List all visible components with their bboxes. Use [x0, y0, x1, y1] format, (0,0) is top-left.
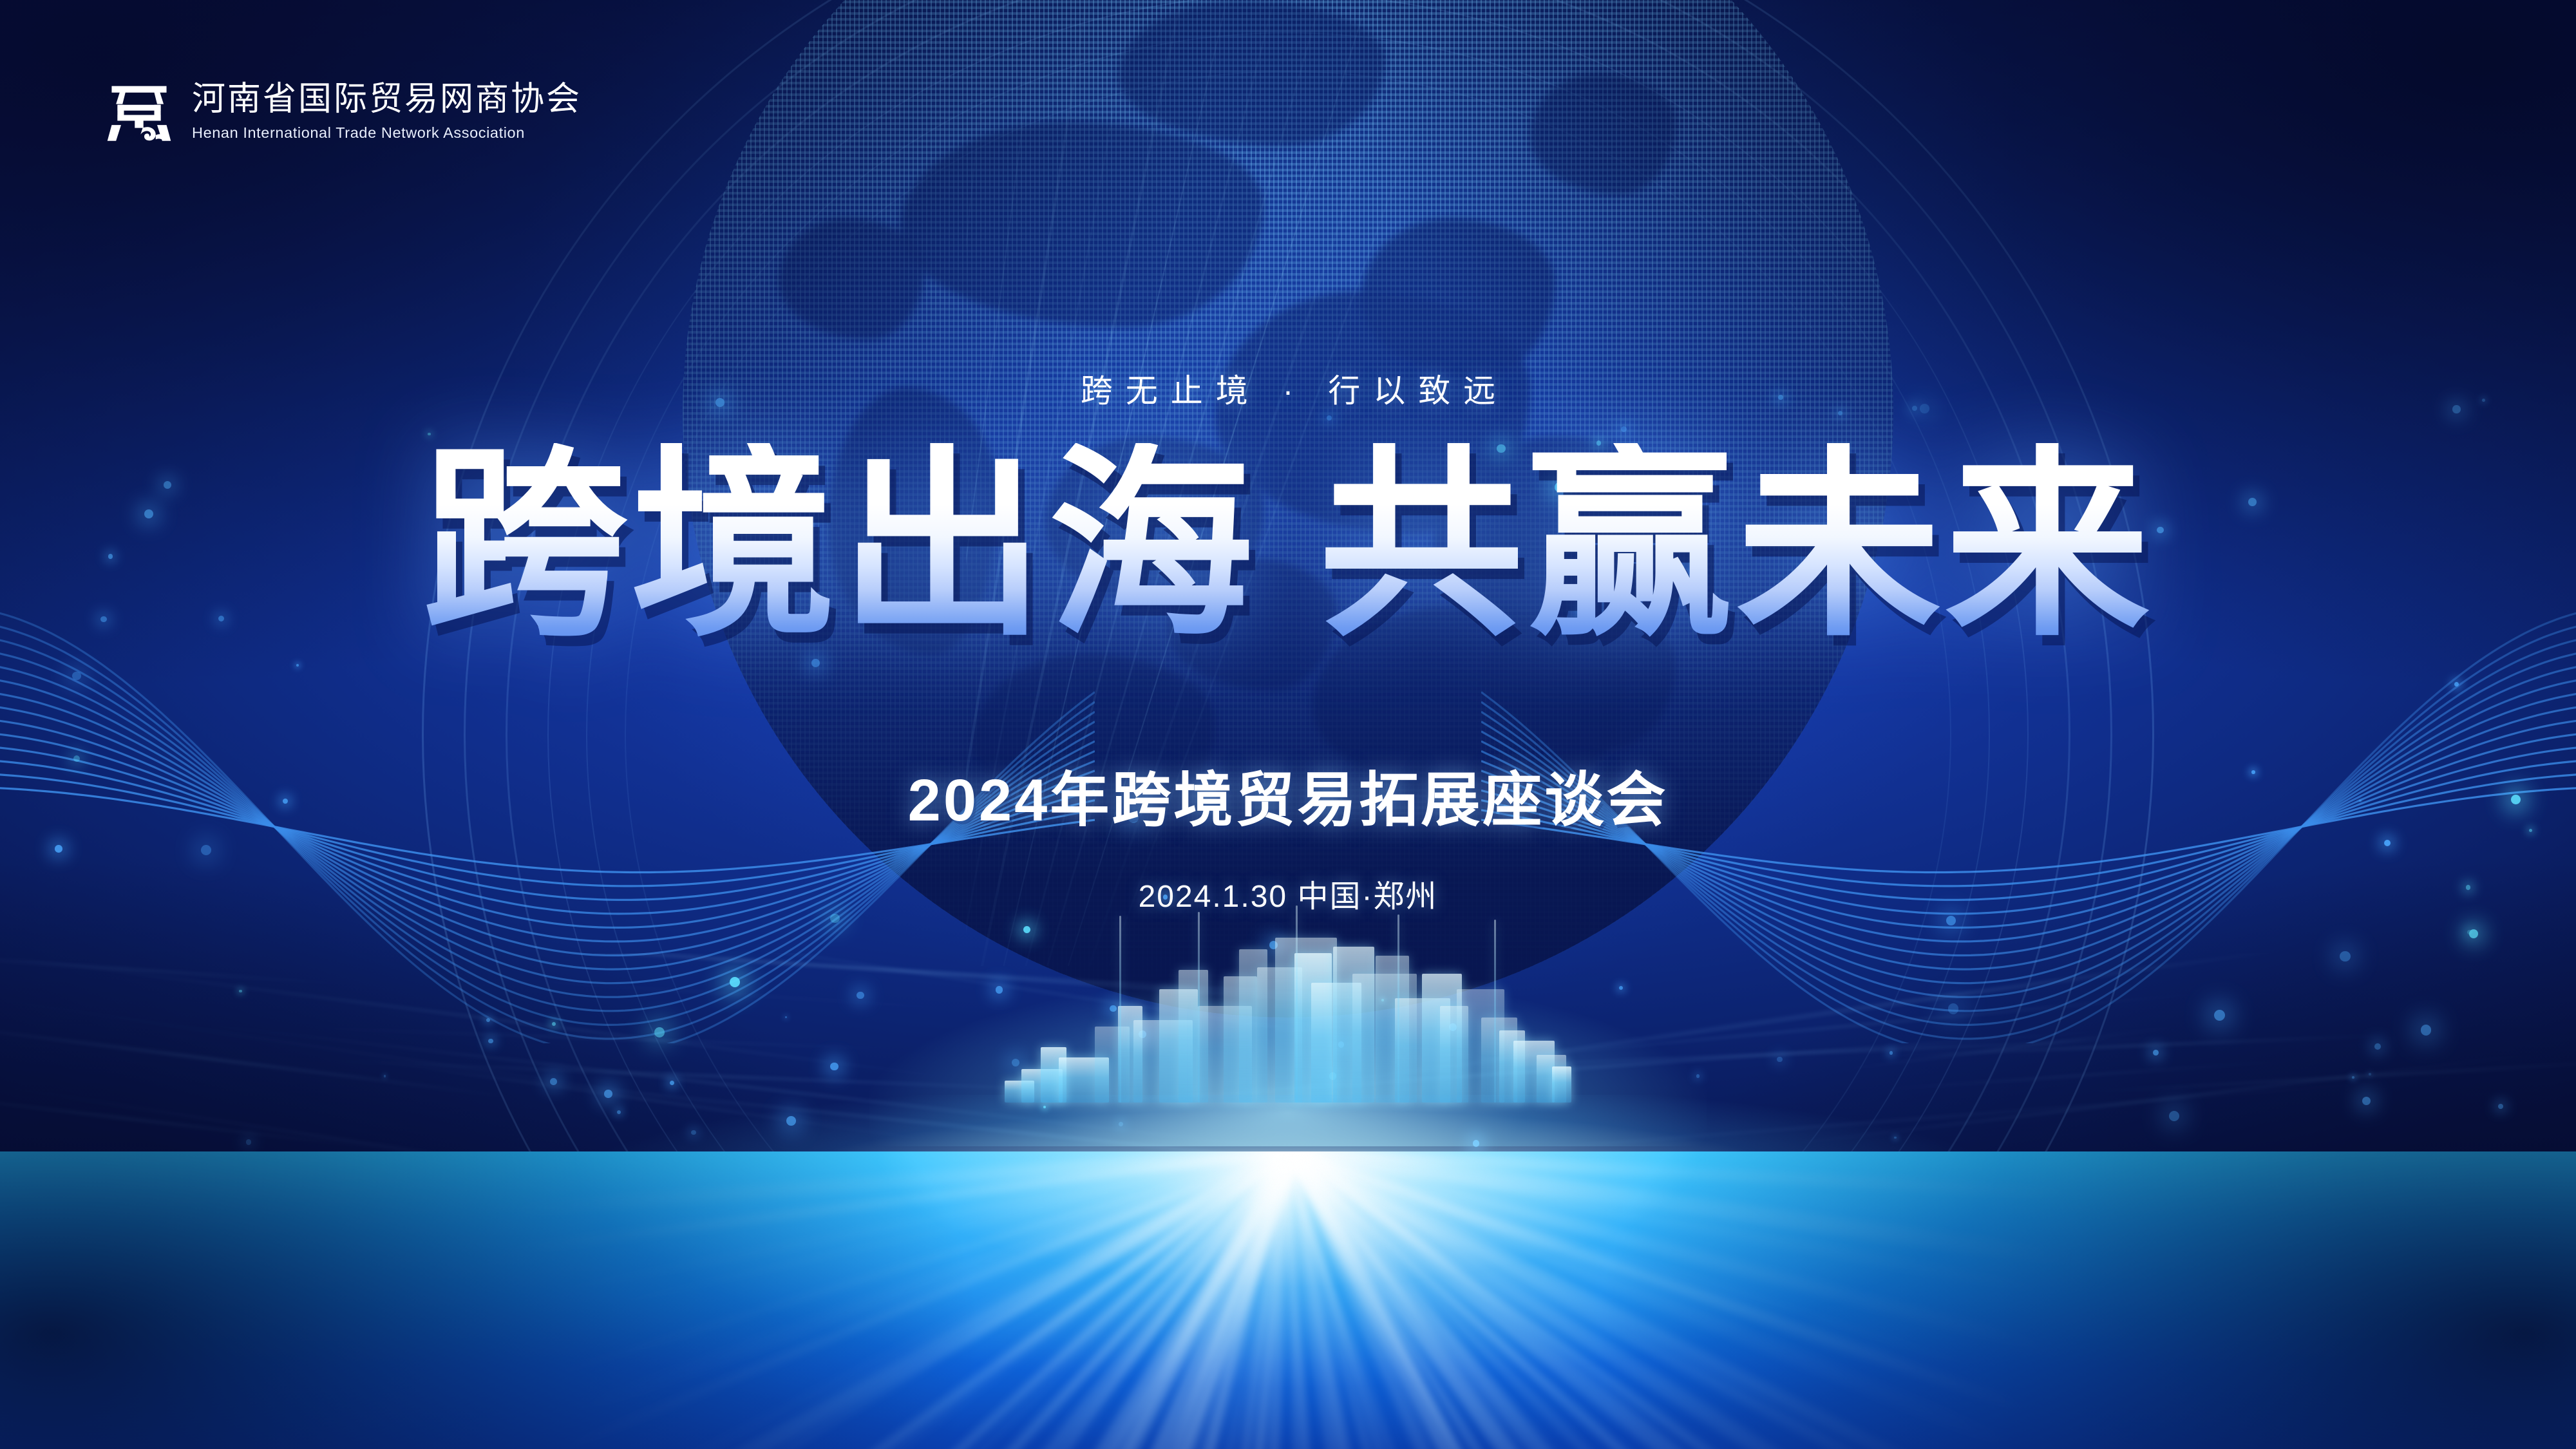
association-logo: 河南省国际贸易网商协会 Henan International Trade Ne… — [103, 76, 582, 148]
poster-canvas: 河南省国际贸易网商协会 Henan International Trade Ne… — [0, 0, 2576, 1449]
page-title: 跨境出海共赢未来 — [0, 443, 2576, 648]
title-part-2: 共赢未来 — [1319, 431, 2154, 659]
title-part-1: 跨境出海 — [422, 431, 1257, 659]
seal-emblem-icon — [103, 76, 175, 148]
event-date-location: 2024.1.30 中国·郑州 — [0, 871, 2576, 916]
tagline: 跨无止境 · 行以致远 — [0, 365, 2576, 412]
event-subtitle: 2024年跨境贸易拓展座谈会 — [0, 752, 2576, 838]
logo-en-name: Henan International Trade Network Associ… — [192, 124, 582, 142]
logo-cn-name: 河南省国际贸易网商协会 — [192, 81, 582, 118]
